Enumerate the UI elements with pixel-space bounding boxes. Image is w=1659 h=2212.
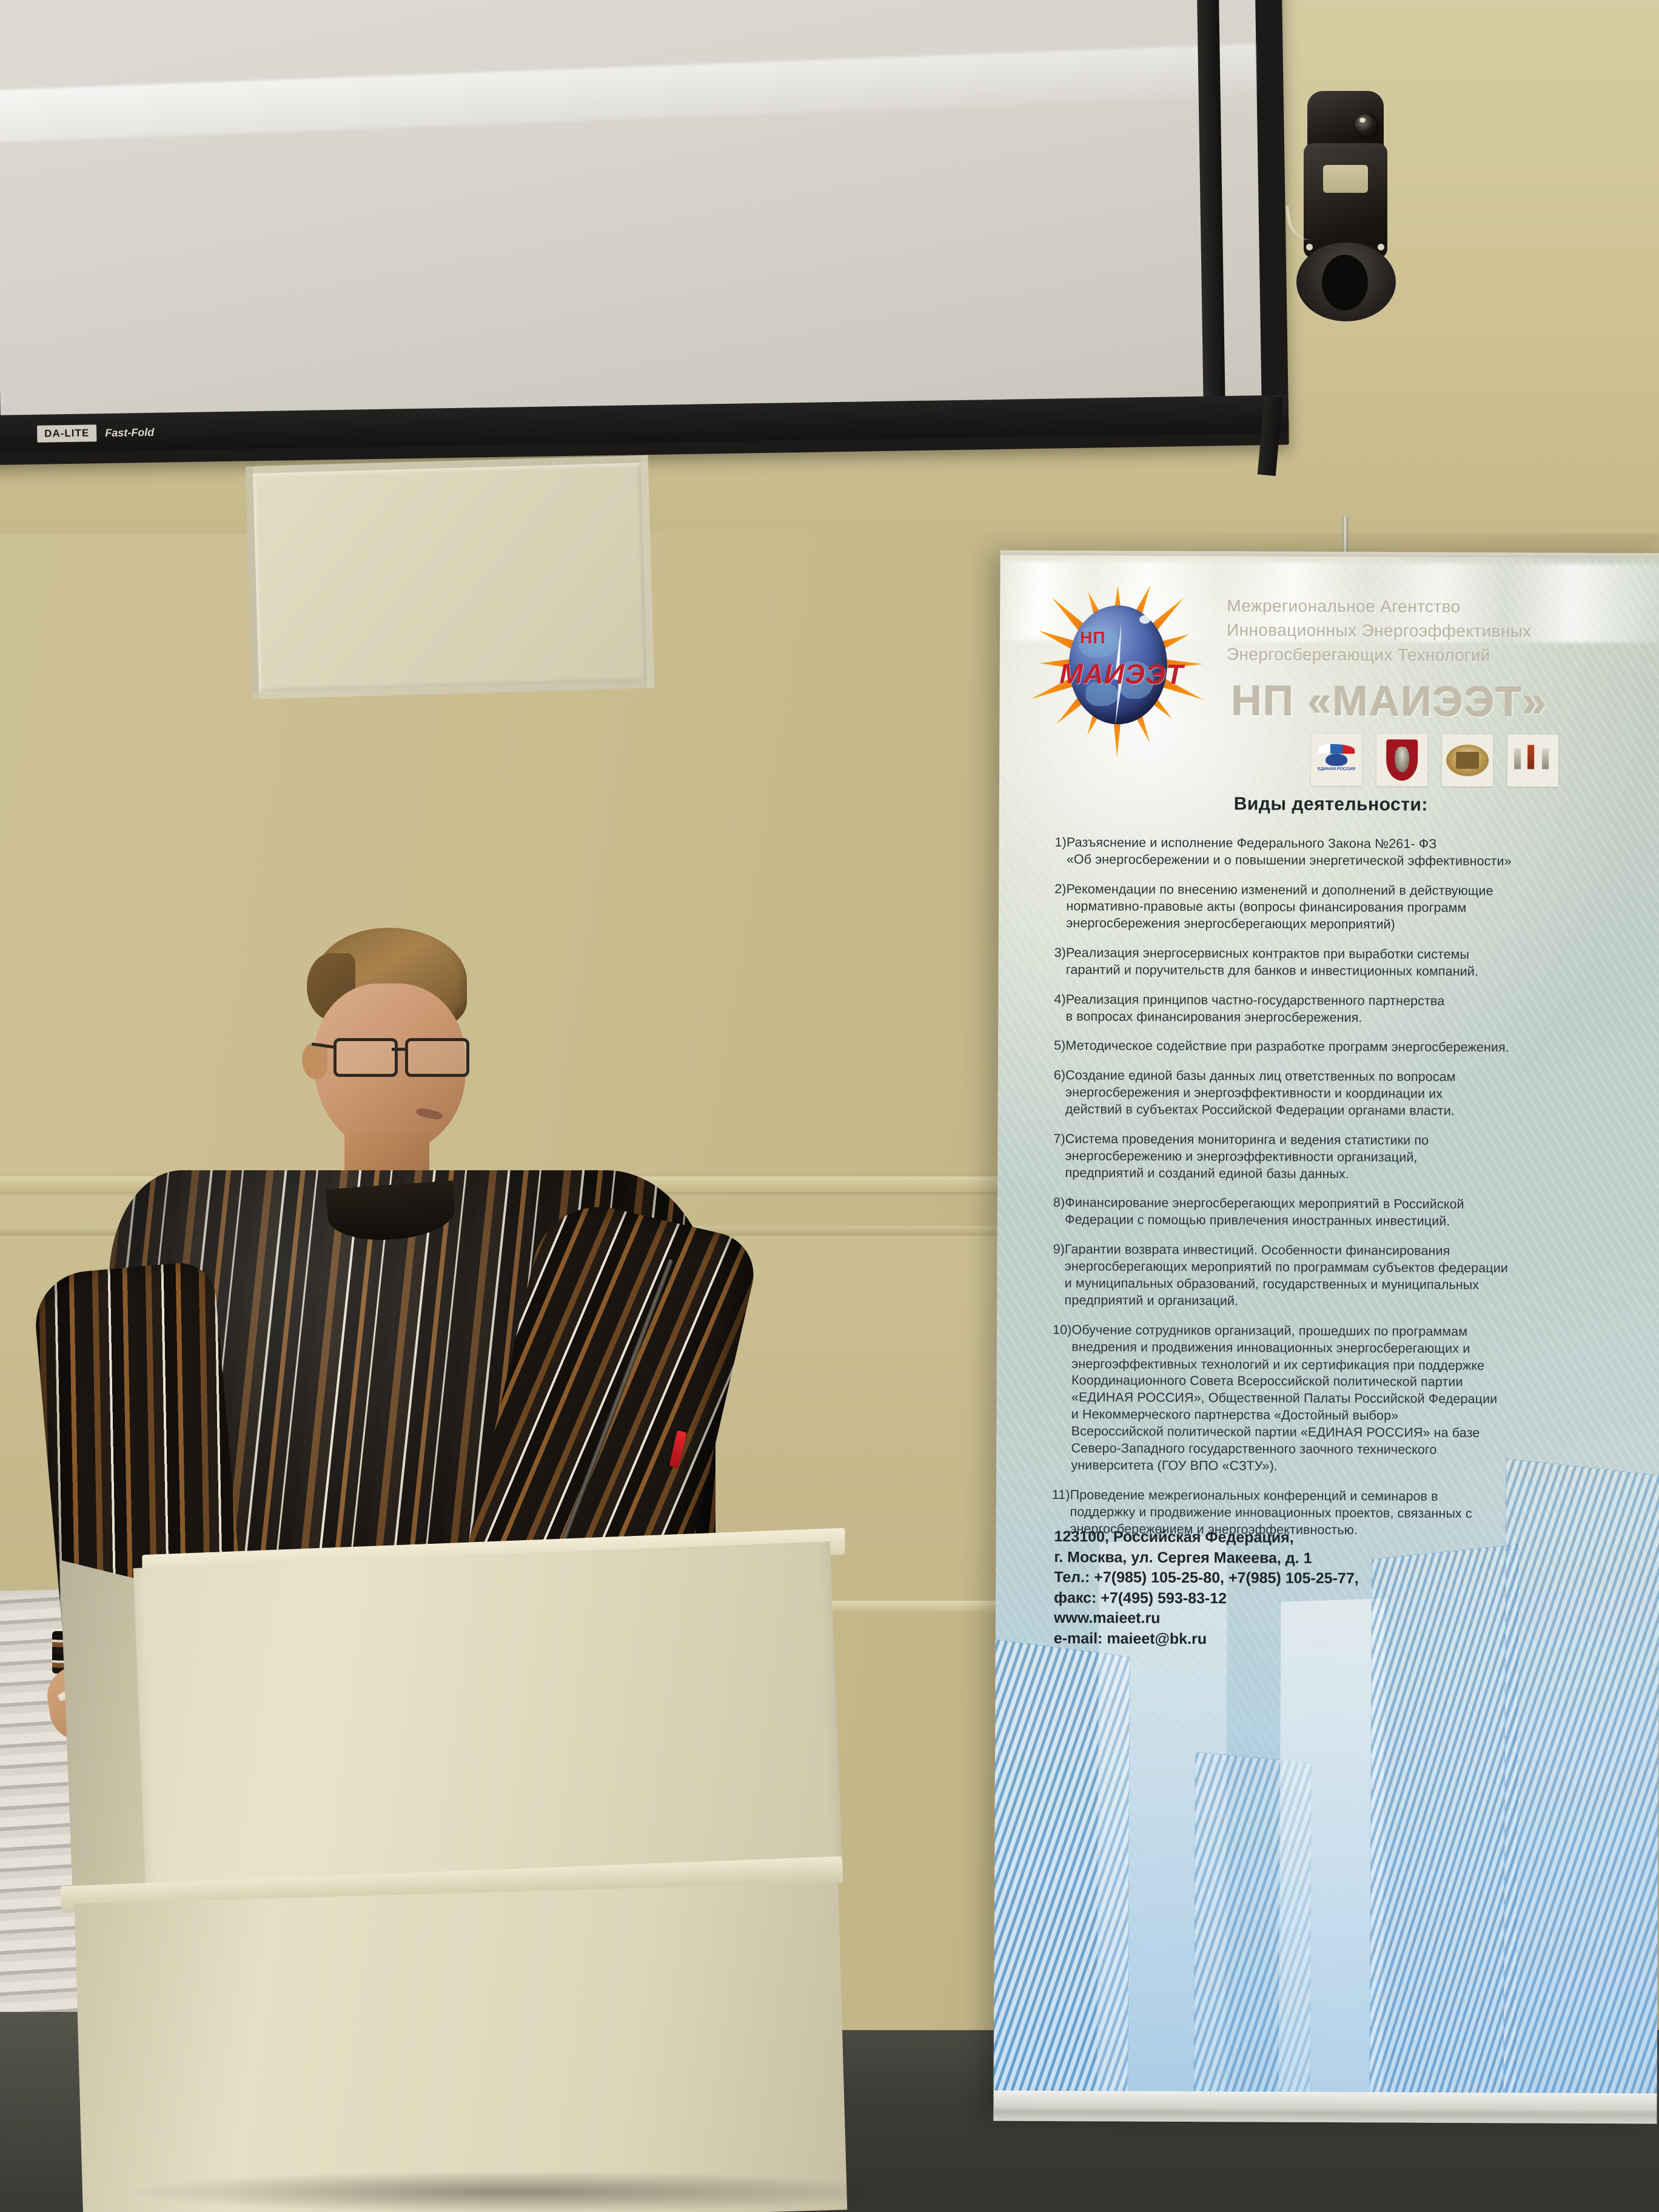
logo-maieet-text: МАИЭЭТ [1040, 657, 1204, 691]
camera-cable [1285, 202, 1320, 243]
activity-number: 7) [1053, 1131, 1065, 1182]
activity-line: предприятий и организаций. [1065, 1292, 1623, 1312]
activity-item: 10)Обучение сотрудников организаций, про… [1052, 1322, 1623, 1477]
logo-np-text: НП [1080, 628, 1105, 648]
activity-item: 4)Реализация принципов частно-государств… [1054, 991, 1624, 1028]
contact-website: www.maieet.ru [1054, 1608, 1359, 1630]
organization-line: Инновационных Энергоэффективных [1227, 618, 1645, 644]
activity-line: Реализация энергосервисных контрактов пр… [1066, 945, 1624, 964]
podium [152, 1534, 873, 2212]
fastfold-model-label: Fast-Fold [105, 426, 154, 439]
activity-line: «Об энергосбережении и о повышении энерг… [1067, 851, 1625, 871]
activity-item: 5)Методическое содействие при разработке… [1054, 1037, 1624, 1057]
rollup-banner: НП МАИЭЭТ Межрегиональное Агентство Инно… [993, 551, 1659, 2124]
activity-line: поддержку и продвижение инновационных пр… [1070, 1504, 1621, 1523]
activity-text: Создание единой базы данных лиц ответств… [1065, 1067, 1624, 1121]
banner-tower [1503, 1458, 1659, 2123]
activity-line: «ЕДИНАЯ РОССИЯ», Общественной Палаты Рос… [1071, 1390, 1623, 1409]
edinaya-rossiya-bear-icon: ЕДИНАЯ РОССИЯ [1317, 742, 1356, 778]
activity-line: энергосбережения и энергоэффективности и… [1065, 1084, 1624, 1104]
projection-screen-assembly: DA-LITE Fast-Fold [0, 0, 1313, 477]
activity-line: Методическое содействие при разработке п… [1065, 1038, 1624, 1057]
activity-line: Рекомендации по внесению изменений и доп… [1066, 881, 1624, 900]
activity-item: 3)Реализация энергосервисных контрактов … [1054, 945, 1624, 981]
activity-line: Северо-Западного государственного заочно… [1071, 1440, 1623, 1460]
organization-line: Энергосберегающих Технологий [1227, 642, 1645, 668]
projection-screen-brand-badge: DA-LITE Fast-Fold [37, 424, 154, 443]
bear-silhouette-icon [1326, 754, 1347, 766]
wall-nail [1342, 517, 1348, 553]
activity-line: Гарантии возврата инвестиций. Особенност… [1065, 1241, 1623, 1261]
tricolor-flag-icon [1318, 744, 1355, 754]
moscow-coat-of-arms-logo [1376, 734, 1427, 786]
activity-line: и Некоммерческого партнерства «Достойный… [1071, 1406, 1623, 1426]
activity-line: Проведение межрегиональных конференций и… [1070, 1487, 1622, 1506]
glasses-lens-left [333, 1038, 398, 1077]
activity-number: 4) [1054, 991, 1066, 1025]
activities-list: 1)Разъяснение и исполнение Федерального … [1051, 834, 1624, 1553]
activity-line: Система проведения мониторинга и ведения… [1065, 1131, 1624, 1150]
activity-number: 2) [1054, 881, 1067, 932]
organization-name-block: Межрегиональное Агентство Инновационных … [1227, 594, 1646, 668]
activity-item: 9)Гарантии возврата инвестиций. Особенно… [1053, 1241, 1623, 1312]
activities-heading: Виды деятельности: [999, 793, 1659, 817]
activity-item: 7)Система проведения мониторинга и веден… [1053, 1131, 1623, 1184]
activity-number: 5) [1054, 1037, 1065, 1054]
contact-address-street: г. Москва, ул. Сергея Макеева, д. 1 [1054, 1547, 1359, 1569]
activity-number: 10) [1052, 1322, 1071, 1475]
activity-line: действий в субъектах Российской Федераци… [1065, 1101, 1624, 1121]
ceiling-camera [1285, 91, 1407, 346]
banner-bottom-rail [993, 2091, 1659, 2124]
activity-line: энергоэффективных технологий и их сертиф… [1071, 1356, 1623, 1375]
banner-tower [1369, 1544, 1518, 2124]
activity-number: 6) [1054, 1067, 1066, 1118]
activity-line: Создание единой базы данных лиц ответств… [1065, 1067, 1624, 1087]
podium-base-recessed-panel [246, 455, 654, 699]
activity-line: Разъяснение и исполнение Федерального За… [1067, 834, 1625, 854]
column-icon [1514, 748, 1521, 769]
activity-line: энергосбережения энергосберегающих мероп… [1066, 915, 1624, 934]
activity-number: 9) [1053, 1241, 1065, 1309]
activity-line: Всероссийской политической партии «ЕДИНА… [1071, 1423, 1623, 1443]
activity-line: гарантий и поручительств для банков и ин… [1066, 962, 1624, 981]
activity-line: университета (ГОУ ВПО «СЗТУ»). [1071, 1457, 1622, 1476]
activity-line: нормативно-правовые акты (вопросы финанс… [1066, 898, 1624, 917]
podium-floor-shadow [121, 2171, 910, 2212]
camera-screw-left [1306, 244, 1313, 250]
contact-block: 123100, Российская Федерация, г. Москва,… [1054, 1527, 1359, 1650]
banner-tower [1278, 1598, 1385, 2123]
activity-item: 8)Финансирование энергосберегающих мероп… [1053, 1195, 1623, 1231]
column-icon [1527, 745, 1534, 769]
activity-item: 6)Создание единой базы данных лиц ответс… [1054, 1067, 1624, 1121]
presenter-glasses [333, 1038, 473, 1073]
presenter-ear [302, 1043, 327, 1079]
activity-text: Финансирование энергосберегающих меропри… [1065, 1195, 1623, 1231]
podium-front-face [133, 1541, 843, 1908]
camera-yoke-window [1323, 165, 1368, 193]
activity-line: Федерации с помощью привлечения иностран… [1065, 1212, 1623, 1231]
obshchestvennaya-palata-logo [1507, 734, 1558, 786]
moscow-shield-icon [1386, 739, 1418, 780]
camera-lens-icon [1353, 113, 1379, 138]
activity-line: Обучение сотрудников организаций, прошед… [1071, 1322, 1623, 1341]
activity-line: внедрения и продвижения инновационных эн… [1071, 1339, 1623, 1358]
banner-title: НП «МАИЭЭТ» [1231, 676, 1547, 726]
contact-address-postal: 123100, Российская Федерация, [1054, 1527, 1359, 1549]
activity-line: энергосбережению и энергоэффективности о… [1065, 1148, 1624, 1167]
gold-emblem-logo [1442, 734, 1493, 786]
dalite-brand-label: DA-LITE [37, 424, 96, 443]
activity-text: Методическое содействие при разработке п… [1065, 1038, 1624, 1057]
activity-line: в вопросах финансирования энергосбережен… [1066, 1008, 1624, 1028]
activity-item: 1)Разъяснение и исполнение Федерального … [1054, 834, 1624, 871]
contact-fax: факс: +7(495) 593-83-12 [1054, 1588, 1359, 1610]
edinaya-rossiya-logo: ЕДИНАЯ РОССИЯ [1311, 734, 1362, 786]
edinaya-rossiya-label: ЕДИНАЯ РОССИЯ [1317, 767, 1356, 772]
activity-line: Координационного Совета Всероссийской по… [1071, 1373, 1623, 1392]
partner-logos-row: ЕДИНАЯ РОССИЯ [1311, 734, 1558, 787]
maieet-logo: НП МАИЭЭТ [1027, 572, 1207, 755]
column-icon [1542, 749, 1549, 769]
camera-yoke [1304, 143, 1387, 258]
activity-number: 3) [1054, 945, 1067, 979]
activity-text: Разъяснение и исполнение Федерального За… [1067, 834, 1625, 871]
activity-line: Финансирование энергосберегающих меропри… [1065, 1195, 1623, 1214]
contact-email: e-mail: maieet@bk.ru [1054, 1629, 1359, 1651]
photo-scene: DA-LITE Fast-Fold [0, 0, 1659, 2212]
activity-number: 8) [1053, 1195, 1065, 1228]
activity-text: Рекомендации по внесению изменений и доп… [1066, 881, 1624, 934]
activity-text: Обучение сотрудников организаций, прошед… [1071, 1322, 1623, 1476]
contact-phone: Тел.: +7(985) 105-25-80, +7(985) 105-25-… [1054, 1567, 1359, 1589]
activity-number: 1) [1054, 834, 1067, 868]
camera-screw-right [1378, 244, 1384, 250]
globe-highlight [1139, 615, 1150, 624]
activity-text: Реализация принципов частно-государствен… [1066, 991, 1624, 1028]
glasses-lens-right [405, 1038, 469, 1077]
podium-base [75, 1883, 848, 2212]
activity-line: и муниципальных образований, государстве… [1065, 1275, 1623, 1295]
activity-line: Реализация принципов частно-государствен… [1066, 991, 1624, 1011]
activity-item: 2)Рекомендации по внесению изменений и д… [1054, 881, 1624, 934]
camera-mount-base [1296, 243, 1396, 321]
activity-line: предприятий и созданий единой базы данны… [1065, 1165, 1623, 1184]
public-chamber-columns-icon [1512, 743, 1554, 777]
activity-line: энергосберегающих мероприятий по програм… [1065, 1258, 1623, 1278]
organization-line: Межрегиональное Агентство [1227, 594, 1645, 620]
activity-text: Система проведения мониторинга и ведения… [1065, 1131, 1623, 1184]
gold-wreath-icon [1446, 745, 1489, 776]
activity-text: Реализация энергосервисных контрактов пр… [1066, 945, 1624, 981]
activity-text: Гарантии возврата инвестиций. Особенност… [1065, 1241, 1623, 1312]
